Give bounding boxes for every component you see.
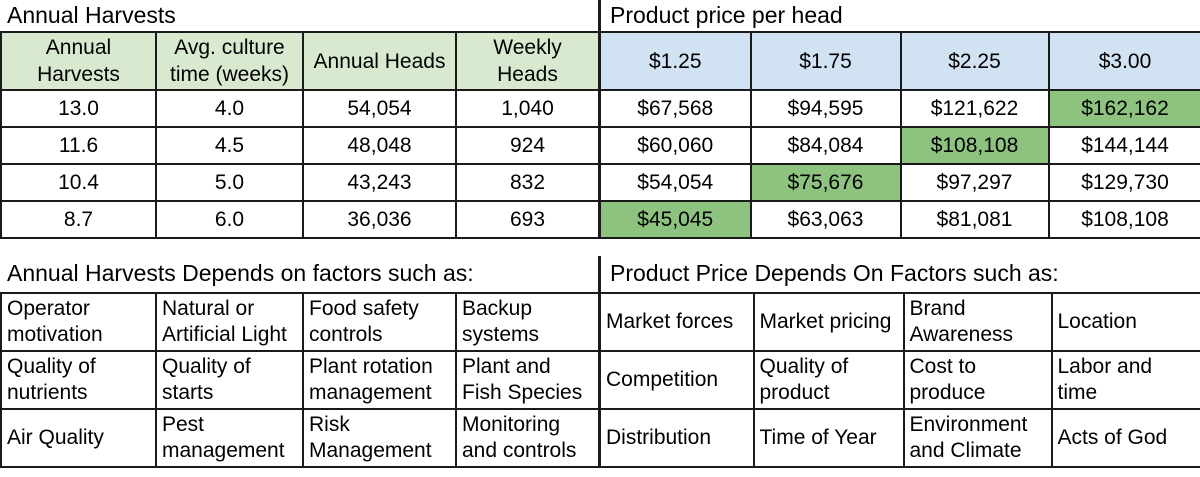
factor-cell: Environment and Climate <box>904 409 1052 467</box>
price-factors-title: Product Price Depends On Factors such as… <box>598 256 1200 292</box>
factor-cell: Distribution <box>600 409 754 467</box>
factor-cell: Plant rotation management <box>303 351 456 409</box>
factor-cell: Time of Year <box>754 409 904 467</box>
price-factors-table: Market forces Market pricing Brand Aware… <box>598 292 1200 468</box>
table-row: Operator motivation Natural or Artificia… <box>1 293 599 351</box>
factor-cell: Cost to produce <box>904 351 1052 409</box>
cell-culture-time: 5.0 <box>156 164 303 201</box>
cell-weekly-heads: 1,040 <box>456 90 599 127</box>
revenue-cell: $94,595 <box>751 90 901 127</box>
cell-annual-harvests: 10.4 <box>1 164 156 201</box>
revenue-cell: $67,568 <box>600 90 751 127</box>
table-row: Market forces Market pricing Brand Aware… <box>600 293 1200 351</box>
factor-cell: Quality of nutrients <box>1 351 156 409</box>
revenue-cell: $60,060 <box>600 127 751 164</box>
factor-cell: Natural or Artificial Light <box>156 293 303 351</box>
factor-cell: Operator motivation <box>1 293 156 351</box>
revenue-cell-highlighted: $162,162 <box>1049 90 1200 127</box>
cell-annual-harvests: 11.6 <box>1 127 156 164</box>
factor-cell: Quality of starts <box>156 351 303 409</box>
table-row: Air Quality Pest management Risk Managem… <box>1 409 599 467</box>
annual-harvests-table: Annual Harvests Avg. culture time (weeks… <box>0 31 600 239</box>
revenue-cell: $81,081 <box>901 201 1049 238</box>
table-row: $67,568 $94,595 $121,622 $162,162 <box>600 90 1200 127</box>
cell-annual-heads: 43,243 <box>303 164 456 201</box>
table-row: $54,054 $75,676 $97,297 $129,730 <box>600 164 1200 201</box>
table-row: 11.6 4.5 48,048 924 <box>1 127 599 164</box>
factor-cell: Acts of God <box>1052 409 1200 467</box>
harvest-factors-panel: Annual Harvests Depends on factors such … <box>0 256 598 477</box>
factor-cell: Location <box>1052 293 1200 351</box>
column-header-annual-harvests: Annual Harvests <box>1 32 156 90</box>
price-factors-panel: Product Price Depends On Factors such as… <box>598 256 1200 477</box>
cell-annual-heads: 54,054 <box>303 90 456 127</box>
factor-cell: Food safety controls <box>303 293 456 351</box>
cell-annual-heads: 36,036 <box>303 201 456 238</box>
cell-culture-time: 6.0 <box>156 201 303 238</box>
table-row: 10.4 5.0 43,243 832 <box>1 164 599 201</box>
column-header-weekly-heads: Weekly Heads <box>456 32 599 90</box>
revenue-cell-highlighted: $75,676 <box>751 164 901 201</box>
table-row: 13.0 4.0 54,054 1,040 <box>1 90 599 127</box>
harvest-factors-title: Annual Harvests Depends on factors such … <box>0 256 598 292</box>
factor-cell: Market forces <box>600 293 754 351</box>
revenue-cell: $144,144 <box>1049 127 1200 164</box>
table-header-row: Annual Harvests Avg. culture time (weeks… <box>1 32 599 90</box>
table-row: Quality of nutrients Quality of starts P… <box>1 351 599 409</box>
revenue-cell: $129,730 <box>1049 164 1200 201</box>
revenue-cell: $63,063 <box>751 201 901 238</box>
revenue-cell: $84,084 <box>751 127 901 164</box>
annual-harvests-title: Annual Harvests <box>0 0 598 31</box>
bottom-section: Annual Harvests Depends on factors such … <box>0 256 1200 477</box>
table-row: $60,060 $84,084 $108,108 $144,144 <box>600 127 1200 164</box>
revenue-cell: $108,108 <box>1049 201 1200 238</box>
cell-annual-harvests: 13.0 <box>1 90 156 127</box>
cell-weekly-heads: 924 <box>456 127 599 164</box>
column-header-price-175: $1.75 <box>751 32 901 90</box>
revenue-cell: $121,622 <box>901 90 1049 127</box>
top-section: Annual Harvests Annual Harvests Avg. cul… <box>0 0 1200 230</box>
cell-annual-heads: 48,048 <box>303 127 456 164</box>
table-row: Distribution Time of Year Environment an… <box>600 409 1200 467</box>
cell-weekly-heads: 832 <box>456 164 599 201</box>
table-row: $45,045 $63,063 $81,081 $108,108 <box>600 201 1200 238</box>
table-row: Competition Quality of product Cost to p… <box>600 351 1200 409</box>
table-header-row: $1.25 $1.75 $2.25 $3.00 <box>600 32 1200 90</box>
cell-weekly-heads: 693 <box>456 201 599 238</box>
factor-cell: Plant and Fish Species <box>456 351 599 409</box>
factor-cell: Backup systems <box>456 293 599 351</box>
factor-cell: Air Quality <box>1 409 156 467</box>
column-header-avg-culture-time: Avg. culture time (weeks) <box>156 32 303 90</box>
column-header-price-225: $2.25 <box>901 32 1049 90</box>
factor-cell: Brand Awareness <box>904 293 1052 351</box>
factor-cell: Risk Management <box>303 409 456 467</box>
product-price-title: Product price per head <box>598 0 1200 31</box>
column-header-price-300: $3.00 <box>1049 32 1200 90</box>
factor-cell: Pest management <box>156 409 303 467</box>
factor-cell: Market pricing <box>754 293 904 351</box>
cell-annual-harvests: 8.7 <box>1 201 156 238</box>
revenue-cell: $97,297 <box>901 164 1049 201</box>
product-price-panel: Product price per head $1.25 $1.75 $2.25… <box>598 0 1200 230</box>
factor-cell: Labor and time <box>1052 351 1200 409</box>
annual-harvests-panel: Annual Harvests Annual Harvests Avg. cul… <box>0 0 598 230</box>
revenue-cell-highlighted: $45,045 <box>600 201 751 238</box>
product-price-table: $1.25 $1.75 $2.25 $3.00 $67,568 $94,595 … <box>598 31 1200 239</box>
cell-culture-time: 4.0 <box>156 90 303 127</box>
column-header-annual-heads: Annual Heads <box>303 32 456 90</box>
factor-cell: Quality of product <box>754 351 904 409</box>
revenue-cell: $54,054 <box>600 164 751 201</box>
cell-culture-time: 4.5 <box>156 127 303 164</box>
factor-cell: Monitoring and controls <box>456 409 599 467</box>
slide-canvas: Annual Harvests Annual Harvests Avg. cul… <box>0 0 1200 477</box>
harvest-factors-table: Operator motivation Natural or Artificia… <box>0 292 600 468</box>
column-header-price-125: $1.25 <box>600 32 751 90</box>
table-row: 8.7 6.0 36,036 693 <box>1 201 599 238</box>
revenue-cell-highlighted: $108,108 <box>901 127 1049 164</box>
factor-cell: Competition <box>600 351 754 409</box>
